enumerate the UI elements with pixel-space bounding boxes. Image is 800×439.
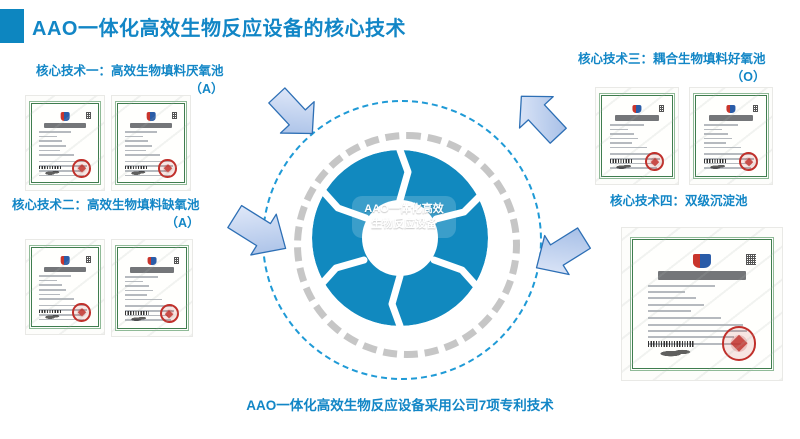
arrow-to-center-1 [246,78,326,161]
tech-label-2-sub: （A） [12,214,200,232]
tech-label-3-text: 核心技术三：耦合生物填料好氧池 [578,52,766,66]
page-title: AAO一体化高效生物反应设备的核心技术 [32,12,406,41]
center-label-line1: AAO一体化高效 [364,203,443,215]
patent-certificate-image [26,240,104,334]
tech-label-4: 核心技术四：双级沉淀池 [610,192,748,210]
patent-certificate-image [596,88,678,184]
tech-label-2-text: 核心技术二：高效生物填料缺氧池 [12,198,200,212]
tech-label-4-text: 核心技术四：双级沉淀池 [610,194,748,208]
tech-label-1-text: 核心技术一：高效生物填料厌氧池 [36,64,224,78]
pinwheel-diagram [312,150,488,326]
patent-certificate-image [690,88,772,184]
footer-caption: AAO一体化高效生物反应设备采用公司7项专利技术 [0,394,800,414]
patent-certificate-image-large [622,228,782,380]
tech-label-3: 核心技术三：耦合生物填料好氧池 （O） [578,50,766,86]
arrow-to-center-3 [506,72,588,157]
patent-certificate-image [112,96,190,190]
patent-certificate-image [26,96,104,190]
tech-label-1: 核心技术一：高效生物填料厌氧池 （A） [36,62,224,98]
arrow-to-center-4 [518,214,600,289]
center-label: AAO一体化高效 生物反应设备 [352,196,456,238]
title-accent-bar [0,9,24,43]
center-label-line2: 生物反应设备 [371,218,437,230]
patent-certificate-image [112,240,192,336]
tech-label-3-sub: （O） [578,68,766,86]
slide-canvas: AAO一体化高效生物反应设备的核心技术 核心技术一：高效生物填料厌氧池 （A） … [0,0,800,439]
tech-label-2: 核心技术二：高效生物填料缺氧池 （A） [12,196,200,232]
arrow-to-center-2 [218,202,304,269]
